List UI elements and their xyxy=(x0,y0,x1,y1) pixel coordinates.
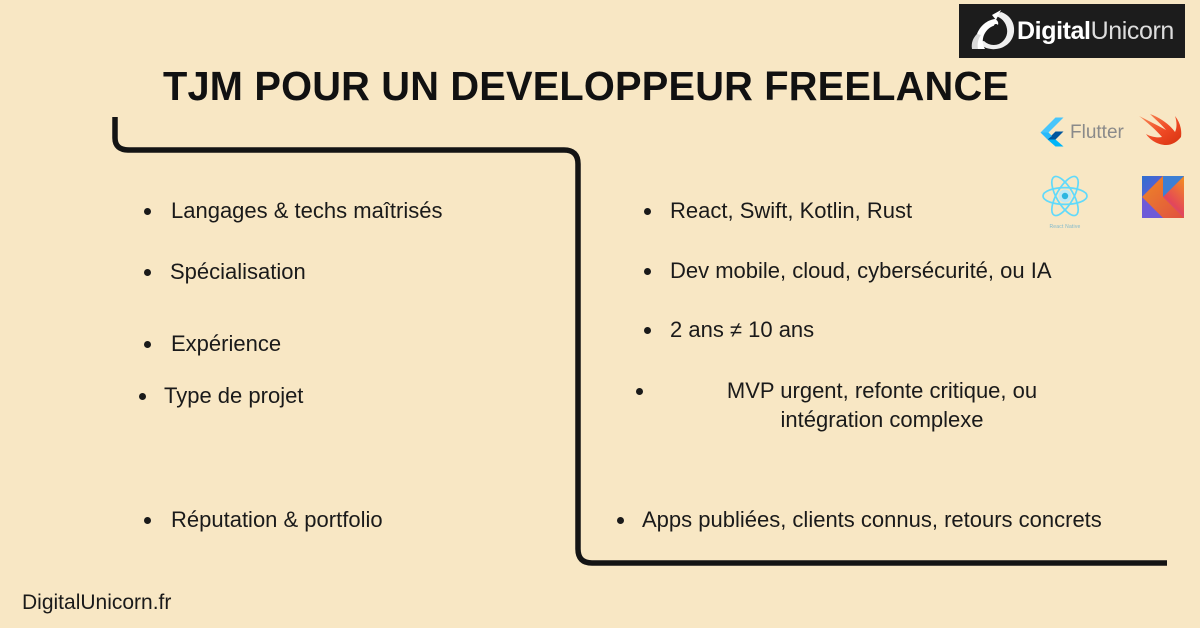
list-item-label: MVP urgent, refonte critique, ou intégra… xyxy=(643,376,1076,434)
bullet-dot-icon xyxy=(644,268,651,275)
react-native-caption: React Native xyxy=(1038,224,1092,230)
brand-name-light: Unicorn xyxy=(1091,17,1174,45)
list-item: Langages & techs maîtrisés xyxy=(144,196,442,225)
swift-icon xyxy=(1136,110,1186,160)
list-item: Apps publiées, clients connus, retours c… xyxy=(617,505,1102,534)
bullet-dot-icon xyxy=(139,393,146,400)
list-item: React, Swift, Kotlin, Rust xyxy=(644,196,912,225)
kotlin-logo xyxy=(1142,176,1184,223)
brand-name-bold: Digital xyxy=(1017,17,1091,45)
list-item-label: Réputation & portfolio xyxy=(151,505,383,534)
list-item-label: React, Swift, Kotlin, Rust xyxy=(651,196,912,225)
flutter-icon xyxy=(1038,117,1064,147)
list-item: Spécialisation xyxy=(144,257,306,286)
list-item-label: Expérience xyxy=(151,329,281,358)
flutter-logo: Flutter xyxy=(1038,117,1124,147)
bullet-dot-icon xyxy=(617,517,624,524)
brand-wordmark: DigitalUnicorn xyxy=(1017,19,1174,44)
footer-website-url[interactable]: DigitalUnicorn.fr xyxy=(22,592,171,613)
react-native-logo: React Native xyxy=(1038,172,1092,230)
list-item: Réputation & portfolio xyxy=(144,505,383,534)
react-native-icon xyxy=(1038,172,1092,220)
list-item-label: Dev mobile, cloud, cybersécurité, ou IA xyxy=(651,256,1052,285)
list-item: 2 ans ≠ 10 ans xyxy=(644,315,814,344)
bullet-dot-icon xyxy=(644,208,651,215)
flutter-label: Flutter xyxy=(1070,123,1124,142)
list-item: Type de projet xyxy=(139,381,303,410)
kotlin-icon xyxy=(1142,176,1184,218)
list-item: Dev mobile, cloud, cybersécurité, ou IA xyxy=(644,256,1052,285)
unicorn-head-icon xyxy=(965,8,1019,54)
swift-logo xyxy=(1136,110,1186,165)
list-item-label: Type de projet xyxy=(146,381,303,410)
page-title: TJM POUR UN DEVELOPPEUR FREELANCE xyxy=(163,66,1009,107)
bullet-dot-icon xyxy=(636,388,643,395)
list-item-label: Apps publiées, clients connus, retours c… xyxy=(624,505,1102,534)
list-item: Expérience xyxy=(144,329,281,358)
bullet-dot-icon xyxy=(144,269,151,276)
brand-logo-badge[interactable]: DigitalUnicorn xyxy=(959,4,1185,58)
list-item: MVP urgent, refonte critique, ou intégra… xyxy=(636,376,1076,434)
list-item-label: 2 ans ≠ 10 ans xyxy=(651,315,814,344)
bullet-dot-icon xyxy=(144,208,151,215)
bullet-dot-icon xyxy=(144,341,151,348)
infographic-canvas: DigitalUnicorn TJM POUR UN DEVELOPPEUR F… xyxy=(0,0,1200,628)
bullet-dot-icon xyxy=(144,517,151,524)
list-item-label: Spécialisation xyxy=(151,257,306,286)
list-item-label: Langages & techs maîtrisés xyxy=(151,196,442,225)
bullet-dot-icon xyxy=(644,327,651,334)
